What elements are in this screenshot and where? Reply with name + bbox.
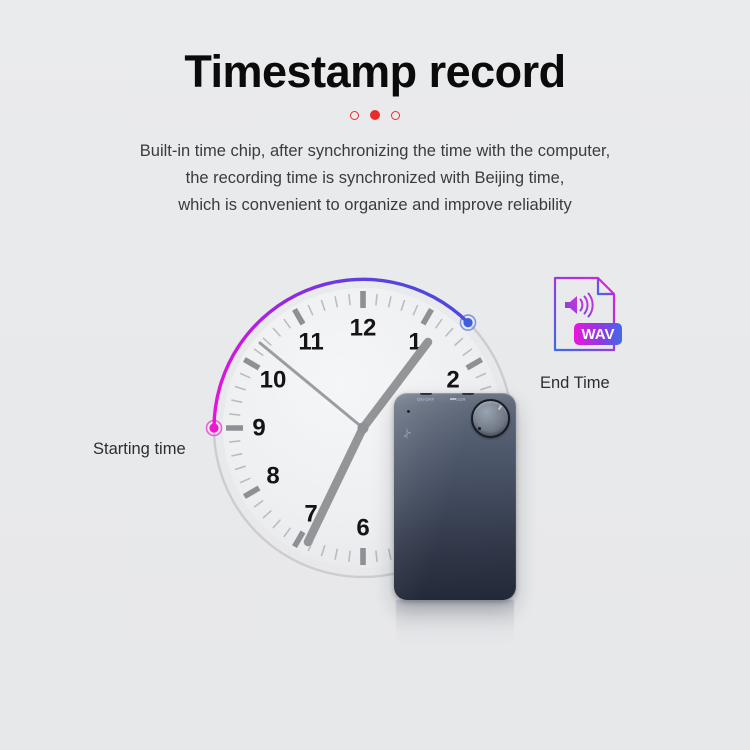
microphone-icon xyxy=(407,410,410,413)
wav-file-icon: WAV xyxy=(551,274,627,364)
start-marker-icon xyxy=(209,423,218,432)
switch-vor-nub[interactable] xyxy=(462,393,474,395)
clock-center-pin xyxy=(358,423,369,434)
wav-badge-label: WAV xyxy=(581,326,614,343)
volume-knob[interactable] xyxy=(471,399,510,438)
switch-on-off-nub[interactable] xyxy=(420,393,432,395)
clock-illustration: 12 1 2 6 7 8 9 10 11 xyxy=(0,0,750,750)
usb-icon xyxy=(403,428,411,439)
starting-time-label: Starting time xyxy=(93,440,186,459)
voice-recorder-device: ON-OFF VOR xyxy=(394,393,516,600)
clock-numeral-10: 10 xyxy=(260,367,287,394)
clock-numeral-2: 2 xyxy=(446,367,459,394)
clock-numeral-9: 9 xyxy=(252,415,265,442)
device-label-on-off: ON-OFF xyxy=(417,397,434,402)
clock-numeral-8: 8 xyxy=(266,463,279,490)
device-top-switches xyxy=(394,393,516,396)
knob-tick-icon xyxy=(497,405,501,410)
end-marker-icon xyxy=(463,318,472,327)
clock-numeral-12: 12 xyxy=(350,315,377,342)
clock-numeral-6: 6 xyxy=(356,515,369,542)
device-label-vor: VOR xyxy=(456,397,466,402)
clock-numeral-11: 11 xyxy=(298,329,323,356)
end-time-label: End Time xyxy=(540,374,610,393)
infographic-canvas: Timestamp record Built-in time chip, aft… xyxy=(0,0,750,750)
speaker-icon xyxy=(565,294,593,317)
device-reflection xyxy=(396,600,514,646)
